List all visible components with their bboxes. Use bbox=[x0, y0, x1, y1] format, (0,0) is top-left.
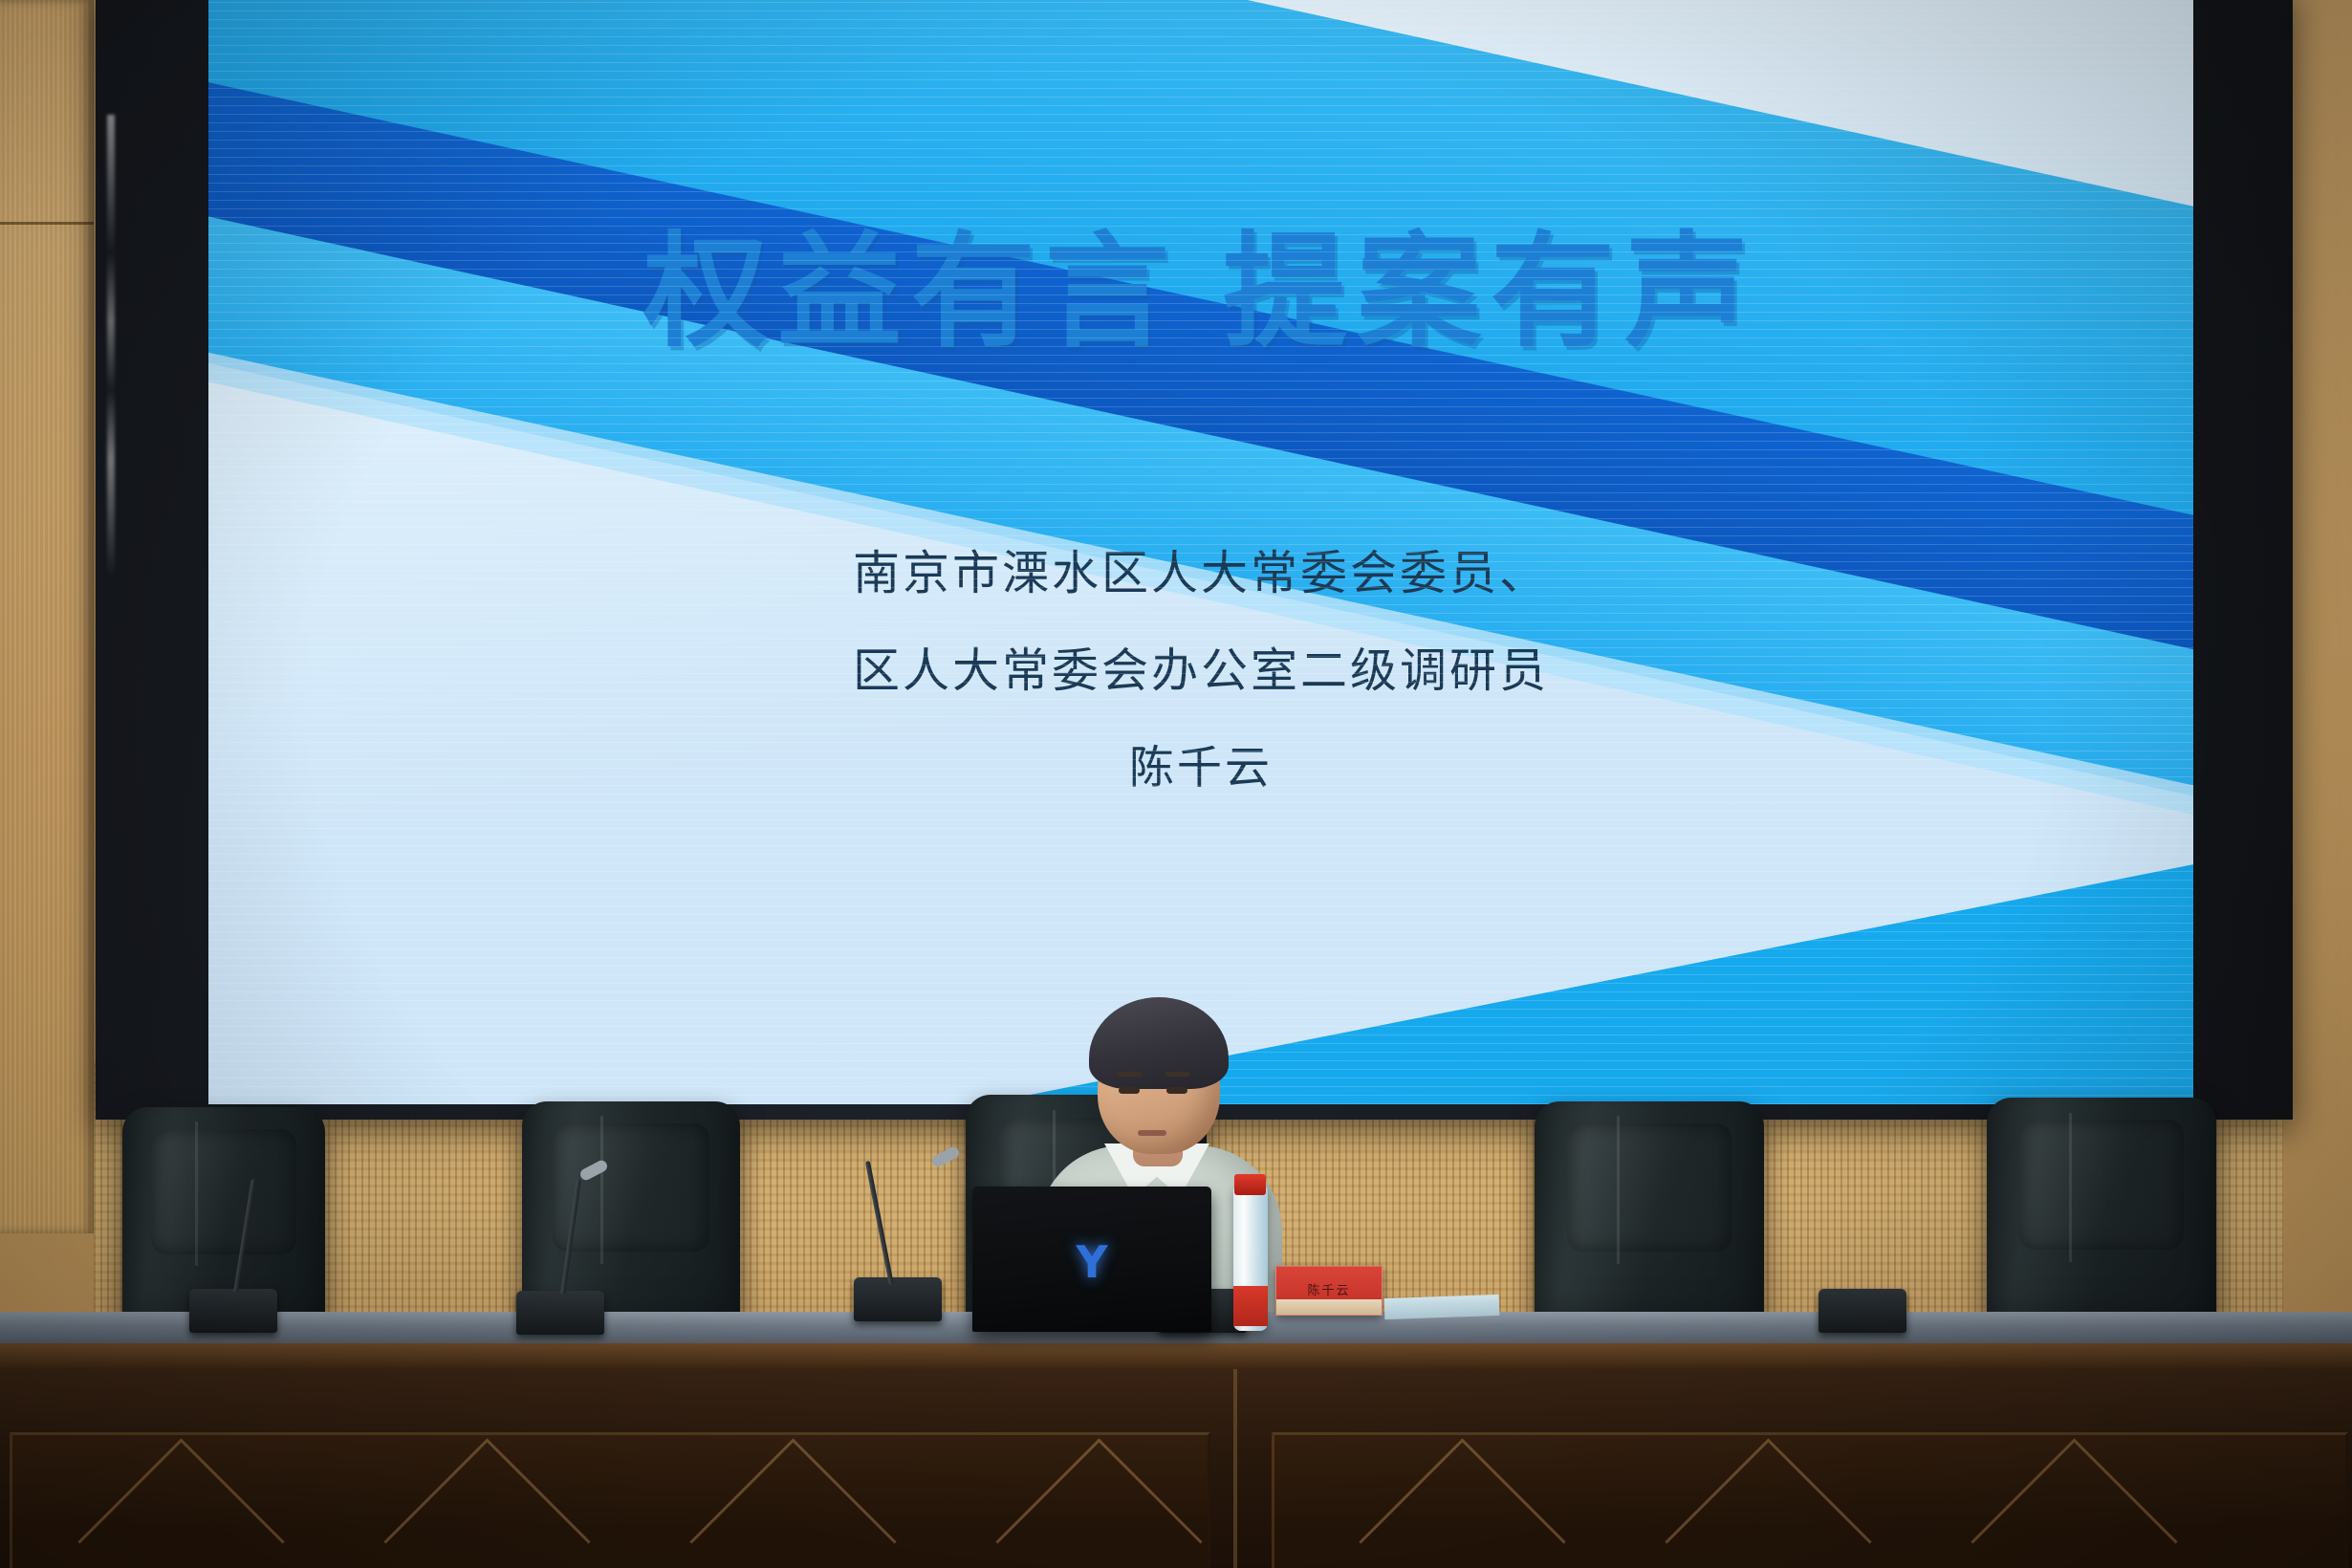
podium-chevron bbox=[77, 1438, 284, 1568]
slide-subtitle-line-2: 区人大常委会办公室二级调研员 bbox=[208, 633, 2193, 701]
conference-room-photo: 权益有言 提案有声 南京市溧水区人大常委会委员、 区人大常委会办公室二级调研员 … bbox=[0, 0, 2352, 1568]
wood-pillar-left bbox=[0, 0, 94, 1233]
presentation-slide: 权益有言 提案有声 南京市溧水区人大常委会委员、 区人大常委会办公室二级调研员 … bbox=[208, 0, 2193, 1104]
papers-on-desk bbox=[1384, 1295, 1500, 1319]
podium-chevron bbox=[1359, 1438, 1565, 1568]
microphone-base bbox=[854, 1277, 942, 1321]
laptop: Y bbox=[972, 1187, 1211, 1332]
name-card: 陈千云 bbox=[1275, 1266, 1383, 1316]
slide-title: 权益有言 提案有声 bbox=[208, 191, 2193, 371]
podium-panel bbox=[1272, 1432, 2348, 1568]
bezel-reflection bbox=[107, 115, 115, 574]
podium-chevron bbox=[689, 1438, 896, 1568]
water-bottle-label bbox=[1233, 1286, 1268, 1326]
podium-seam bbox=[1233, 1369, 1237, 1568]
podium-panel bbox=[10, 1432, 1210, 1568]
podium-chevron bbox=[1971, 1438, 2177, 1568]
name-card-text: 陈千云 bbox=[1276, 1280, 1382, 1298]
speaker-eye-right bbox=[1166, 1087, 1187, 1094]
microphone-base bbox=[1818, 1289, 1906, 1333]
name-card-base bbox=[1276, 1299, 1382, 1315]
microphone-base bbox=[189, 1289, 277, 1333]
speaker-eyebrow-right bbox=[1165, 1072, 1189, 1077]
slide-presenter-name: 陈千云 bbox=[208, 730, 2193, 796]
podium-chevron bbox=[995, 1438, 1202, 1568]
slide-ribbon-bottom-wedge bbox=[610, 770, 2193, 1104]
laptop-legion-y-icon: Y bbox=[1076, 1236, 1107, 1288]
podium-chevron bbox=[1665, 1438, 1871, 1568]
water-bottle-cap bbox=[1234, 1174, 1266, 1195]
slide-subtitle-line-1: 南京市溧水区人大常委会委员、 bbox=[208, 535, 2193, 603]
speaker-eyebrow-left bbox=[1117, 1072, 1142, 1077]
podium-chevron bbox=[383, 1438, 590, 1568]
microphone-base bbox=[516, 1291, 604, 1335]
speaker-mouth bbox=[1138, 1130, 1166, 1136]
speaker-eye-left bbox=[1119, 1087, 1140, 1094]
chair bbox=[1987, 1098, 2216, 1346]
